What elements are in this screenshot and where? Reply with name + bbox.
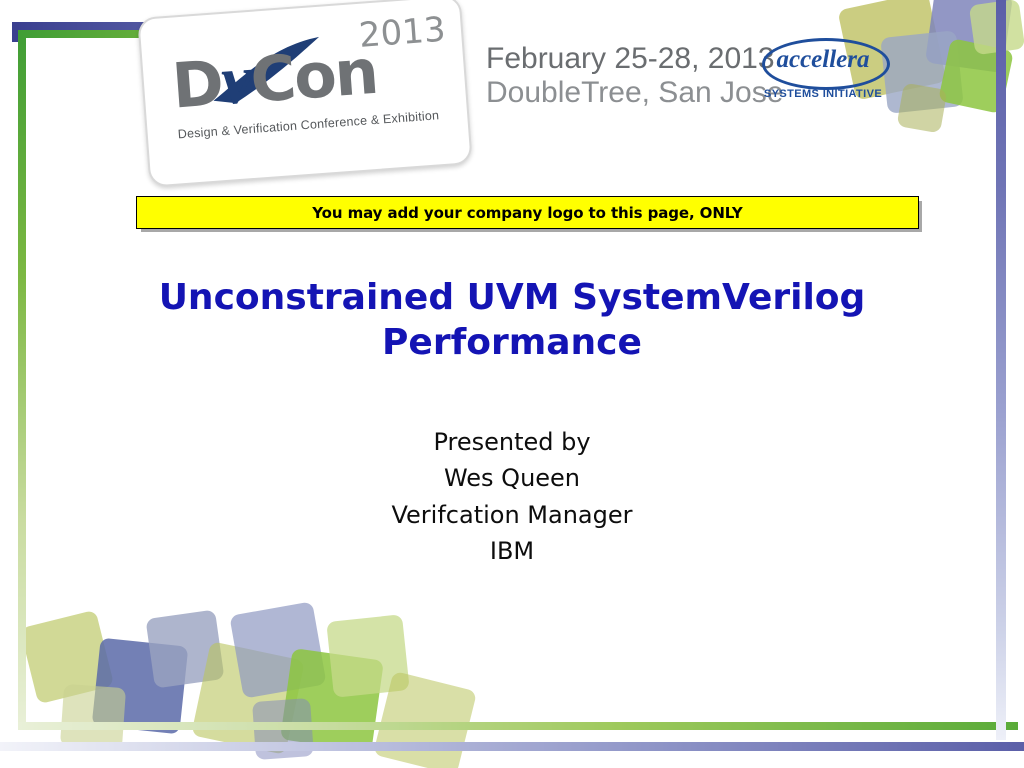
page-title: Unconstrained UVM SystemVerilog Performa…	[112, 276, 912, 365]
presenter-block: Presented by Wes Queen Verifcation Manag…	[112, 424, 912, 570]
presenter-role: Verifcation Manager	[112, 497, 912, 533]
accellera-wordmark: accellera	[762, 46, 884, 74]
decorative-square	[897, 83, 948, 134]
frame-bottom-blue	[0, 742, 1024, 751]
frame-left-green	[18, 30, 26, 730]
slide: DvCon 2013 Design & Verification Confere…	[0, 0, 1024, 768]
dvcon-year: 2013	[358, 10, 447, 56]
dvcon-wordmark: DvCon	[169, 31, 379, 126]
dvcon-letter-d: D	[170, 46, 225, 122]
notice-banner: You may add your company logo to this pa…	[136, 196, 919, 229]
accellera-logo: accellera SYSTEMS INITIATIVE	[762, 38, 892, 108]
dvcon-logo-card: DvCon 2013 Design & Verification Confere…	[137, 0, 473, 188]
decorative-square	[60, 684, 126, 750]
event-venue: DoubleTree, San Jose	[486, 76, 783, 110]
presenter-name: Wes Queen	[112, 460, 912, 496]
dvcon-logo-inner: DvCon 2013 Design & Verification Confere…	[139, 0, 470, 185]
notice-text: You may add your company logo to this pa…	[312, 204, 742, 222]
frame-right-blue	[996, 0, 1006, 740]
presenter-company: IBM	[112, 533, 912, 569]
event-dates: February 25-28, 2013	[486, 42, 775, 76]
presented-by-label: Presented by	[112, 424, 912, 460]
accellera-subtitle: SYSTEMS INITIATIVE	[762, 88, 884, 100]
frame-bottom-green	[18, 722, 1018, 730]
